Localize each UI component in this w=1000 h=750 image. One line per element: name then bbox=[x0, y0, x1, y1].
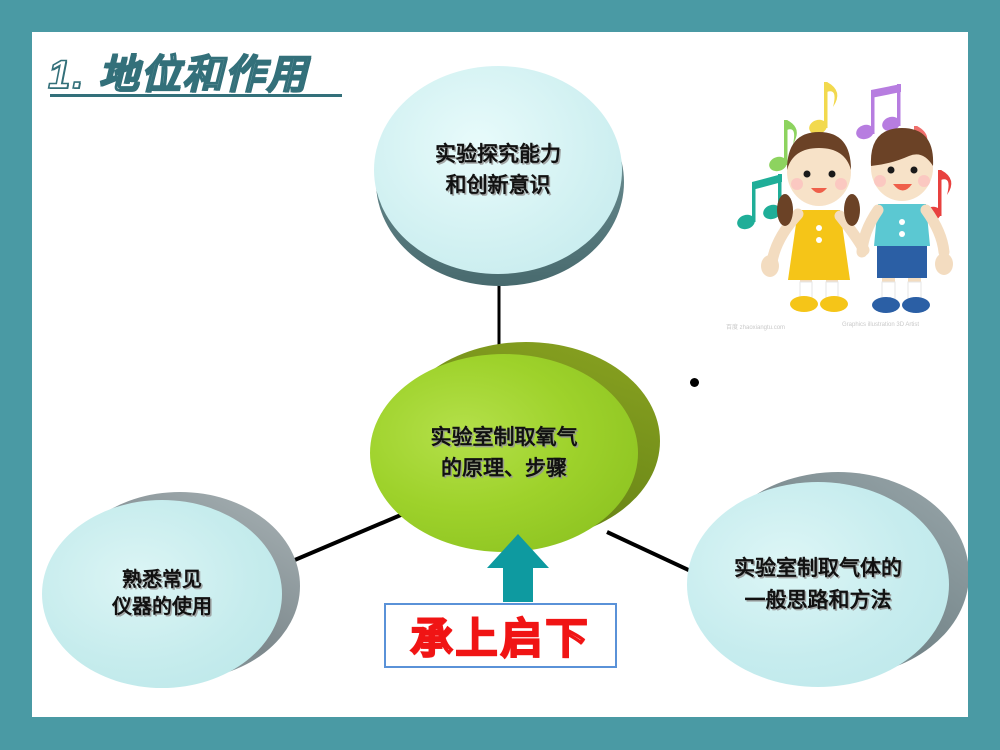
up-arrow-icon bbox=[483, 532, 553, 604]
clipart-watermark-left: 百度 zhaoxiangtu.com bbox=[726, 322, 785, 331]
callout-text: 承上启下 bbox=[410, 605, 590, 666]
node-top-line1: 实验探究能力 bbox=[435, 139, 561, 171]
bullet-dot bbox=[690, 378, 699, 387]
slide-canvas: 1. 地位和作用 实验探究能力 和创新意识 实验室制取氧气 的原理、步骤 熟悉常… bbox=[32, 32, 968, 717]
node-center-line2: 的原理、步骤 bbox=[441, 453, 567, 485]
music-note-yellow bbox=[807, 82, 837, 136]
clipart-watermark-right: Graphics illustration 3D Artist bbox=[842, 322, 919, 328]
node-top-line2: 和创新意识 bbox=[446, 170, 551, 202]
page-title: 1. 地位和作用 bbox=[48, 42, 308, 100]
callout-box[interactable]: 承上启下 bbox=[384, 603, 617, 668]
boy-figure bbox=[862, 128, 953, 313]
node-top[interactable]: 实验探究能力 和创新意识 bbox=[370, 62, 630, 292]
title-underline bbox=[50, 94, 342, 97]
node-top-face: 实验探究能力 和创新意识 bbox=[374, 66, 622, 274]
node-bottom-left-line2: 仪器的使用 bbox=[112, 594, 212, 621]
children-clipart bbox=[722, 42, 958, 320]
node-bottom-right-line1: 实验室制取气体的 bbox=[734, 553, 902, 585]
node-bottom-left-line1: 熟悉常见 bbox=[122, 567, 202, 594]
node-center-face: 实验室制取氧气 的原理、步骤 bbox=[370, 354, 638, 552]
node-bottom-left-face: 熟悉常见 仪器的使用 bbox=[42, 500, 282, 688]
node-center[interactable]: 实验室制取氧气 的原理、步骤 bbox=[370, 342, 660, 557]
node-bottom-right[interactable]: 实验室制取气体的 一般思路和方法 bbox=[687, 472, 968, 692]
node-bottom-right-face: 实验室制取气体的 一般思路和方法 bbox=[687, 482, 949, 687]
node-center-line1: 实验室制取氧气 bbox=[431, 422, 578, 454]
music-note-teal bbox=[735, 174, 782, 231]
node-bottom-right-line2: 一般思路和方法 bbox=[745, 585, 892, 617]
node-bottom-left[interactable]: 熟悉常见 仪器的使用 bbox=[42, 492, 302, 692]
